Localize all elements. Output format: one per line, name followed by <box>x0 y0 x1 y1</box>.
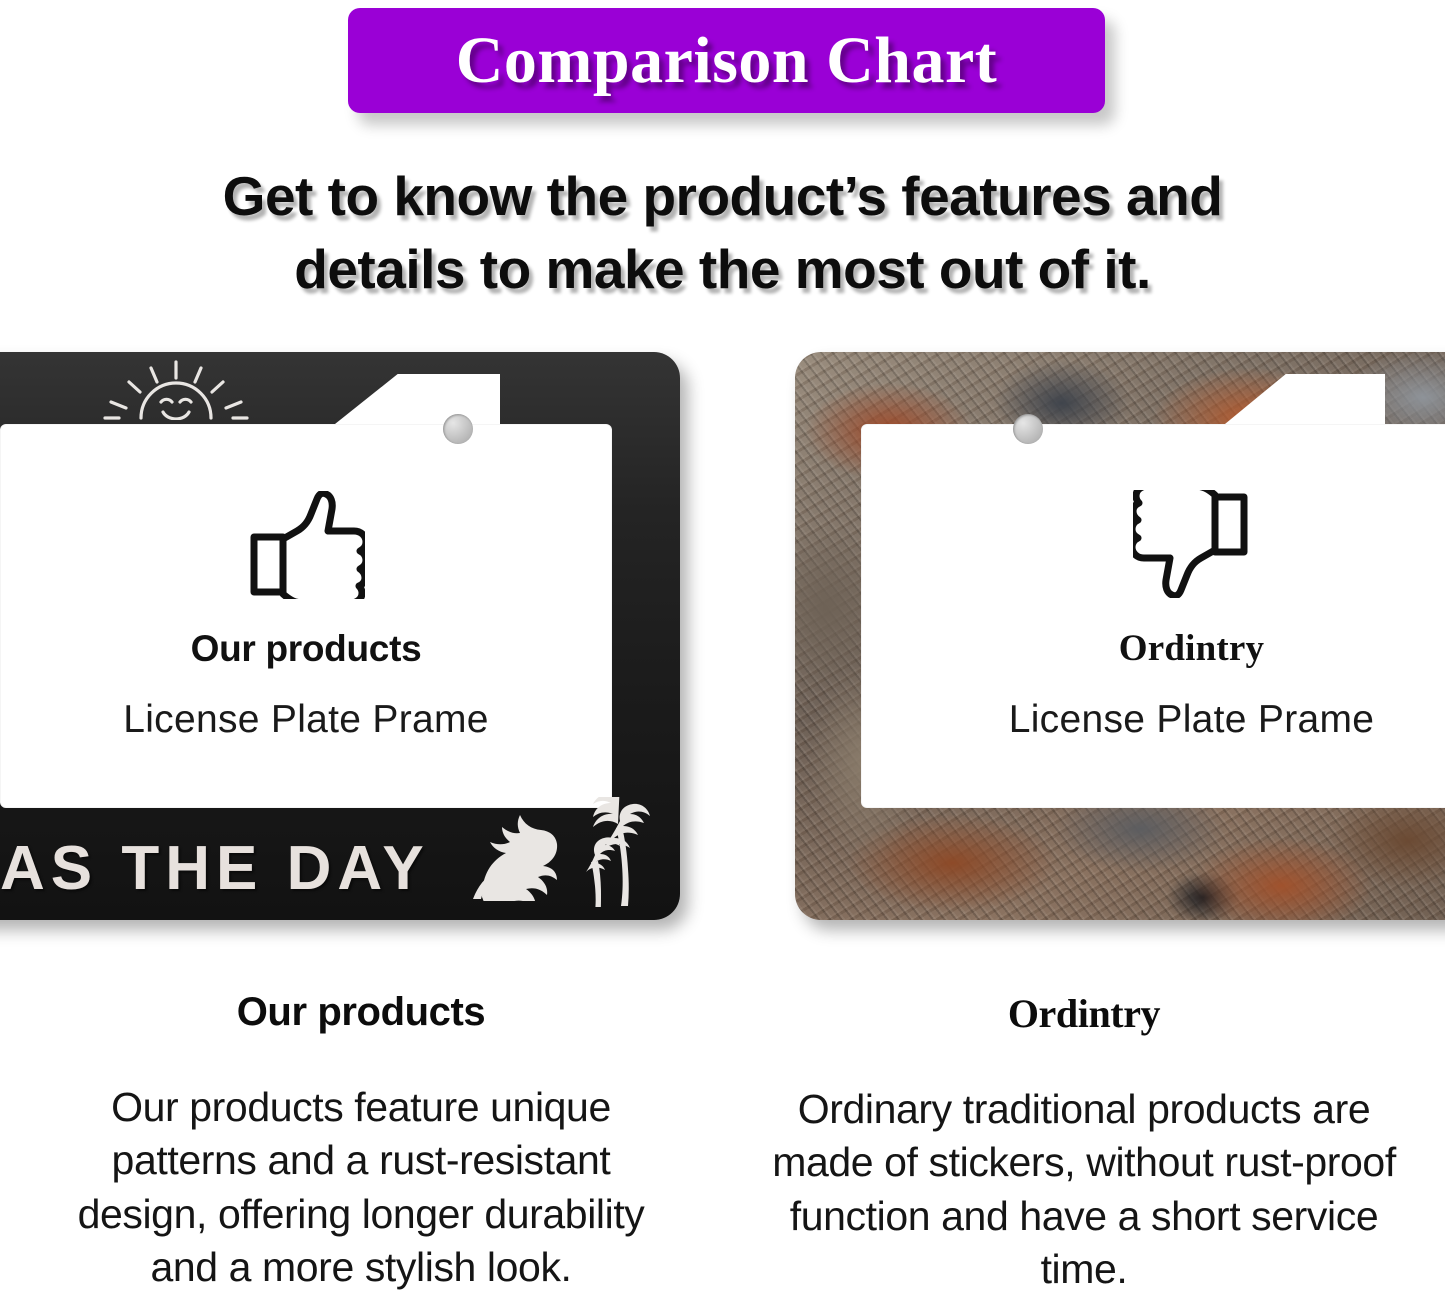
plate-brand-name: Our products <box>191 628 422 670</box>
caption-body: Our products feature unique patterns and… <box>49 1081 674 1294</box>
ordinary-product-frame-image: Ordintry License Plate Prame <box>795 352 1445 920</box>
black-license-plate-frame: Our products License Plate Prame AS THE … <box>0 352 680 920</box>
rusted-license-plate-frame: Ordintry License Plate Prame <box>795 352 1445 920</box>
plate-notch <box>1225 374 1385 424</box>
palm-tree-icon <box>565 797 663 912</box>
comparison-captions: Our products Our products feature unique… <box>0 990 1445 1314</box>
plate-notch <box>335 374 500 424</box>
smiling-sun-icon <box>81 356 271 425</box>
product-comparison-images: Our products License Plate Prame AS THE … <box>0 352 1445 930</box>
plate-subtitle: License Plate Prame <box>1009 698 1375 742</box>
subtitle-line-2: details to make the most out of it. <box>0 233 1445 306</box>
plate-subtitle: License Plate Prame <box>123 698 489 742</box>
ordinary-product-caption: Ordintry Ordinary traditional products a… <box>723 990 1445 1296</box>
comparison-chart-banner: Comparison Chart <box>348 8 1105 113</box>
frame-strip-text: AS THE DAY <box>0 833 430 904</box>
caption-heading: Our products <box>0 990 722 1035</box>
page-title: Comparison Chart <box>348 8 1105 113</box>
wave-icon <box>470 809 558 906</box>
subtitle-line-1: Get to know the product’s features and <box>223 165 1223 227</box>
license-plate-window: Ordintry License Plate Prame <box>861 424 1445 808</box>
license-plate-window: Our products License Plate Prame <box>0 424 612 808</box>
our-product-caption: Our products Our products feature unique… <box>0 990 722 1294</box>
mounting-hole <box>443 414 473 444</box>
our-product-frame-image: Our products License Plate Prame AS THE … <box>0 352 680 920</box>
caption-body: Ordinary traditional products are made o… <box>772 1083 1397 1296</box>
title-banner-area: Comparison Chart <box>0 0 1445 130</box>
thumbs-up-icon <box>247 491 365 604</box>
thumbs-down-icon <box>1133 490 1251 603</box>
caption-heading: Ordintry <box>723 990 1445 1037</box>
plate-brand-name: Ordintry <box>1119 627 1264 670</box>
page-subtitle: Get to know the product’s features and d… <box>0 160 1445 306</box>
mounting-hole <box>1013 414 1043 444</box>
